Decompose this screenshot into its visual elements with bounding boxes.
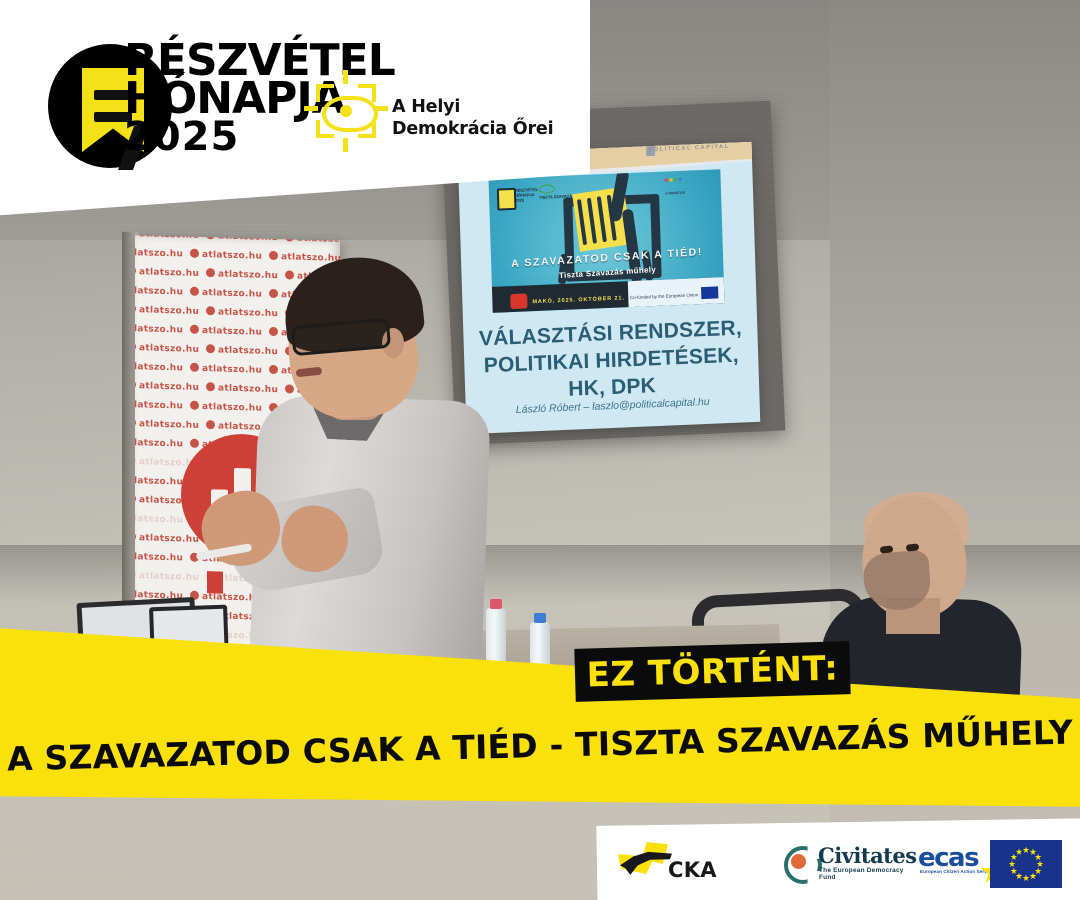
campaign-logo-reszvetel-label: RÉSZVÉTEL HÓNAPJA 2025: [515, 187, 539, 203]
kicker-badge: EZ TÖRTÉNT:: [574, 641, 850, 702]
campaign-logo-reszvetel: RÉSZVÉTEL HÓNAPJA 2025: [497, 185, 538, 209]
ecas-tagline: European Citizen Action Service: [920, 869, 994, 874]
poster-canvas: atlatszo.hu atlatszo.hu atlatszo.hu atla…: [0, 0, 1080, 900]
cka-logo: CKA: [612, 838, 702, 886]
eye-target-icon: [310, 74, 382, 146]
presenter-person: [236, 248, 516, 668]
european-union-flag: [990, 840, 1062, 888]
cka-logo-label: CKA: [668, 858, 717, 882]
campaign-logo-kmonitor: K-MONITOR: [665, 178, 685, 200]
campaign-eu-flag: [701, 286, 718, 299]
guardians-lockup: A Helyi Demokrácia Őrei: [310, 78, 550, 188]
civitates-logo: Civitates The European Democracy Fund: [784, 844, 912, 880]
slide-heading-line-3: HK, DPK: [568, 374, 656, 401]
campaign-logo-kmonitor-label: K-MONITOR: [665, 191, 685, 196]
guardians-label: A Helyi Demokrácia Őrei: [392, 96, 572, 140]
civitates-tagline: The European Democracy Fund: [819, 867, 912, 881]
civitates-logo-label: Civitates: [818, 843, 917, 868]
civitates-dot-icon: [791, 854, 806, 869]
banner-square-mark: [207, 571, 223, 593]
campaign-key-visual: RÉSZVÉTEL HÓNAPJA 2025 TISZTA SZAVAZÁS K…: [489, 169, 725, 313]
kicker-label: EZ TÖRTÉNT:: [574, 641, 850, 702]
